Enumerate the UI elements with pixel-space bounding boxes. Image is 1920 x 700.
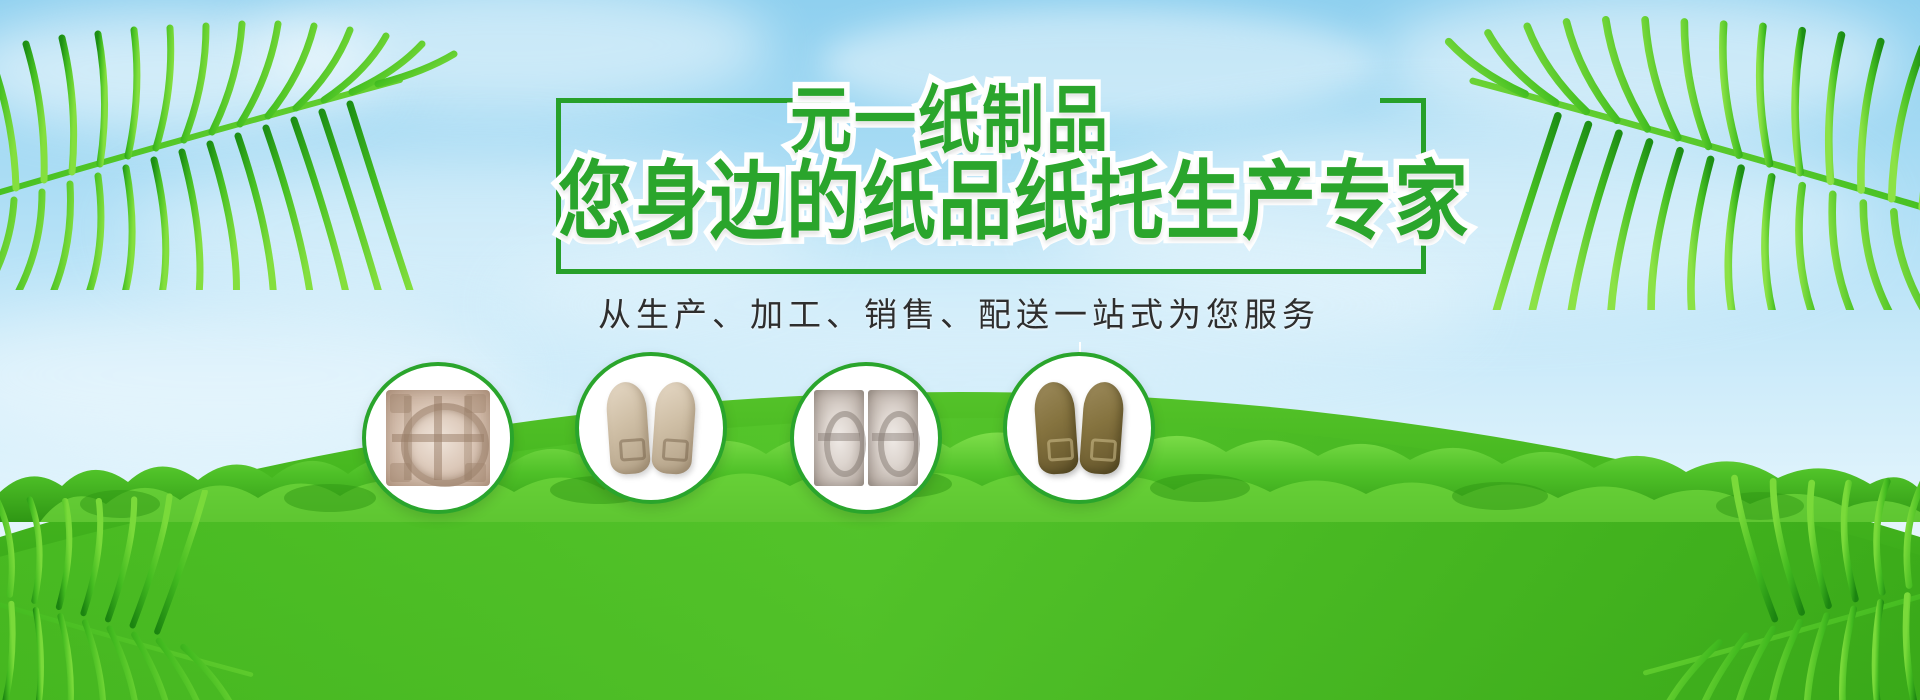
insole-pair [599, 380, 703, 476]
headline-line-2: 您身边的纸品纸托生产专家 [558, 152, 1470, 252]
tray-corner [390, 394, 411, 413]
insole-left [1033, 381, 1079, 476]
product-circle-insoles-dark[interactable] [1003, 352, 1155, 504]
product-image-paper-pulp-shoe-insoles-dark [1027, 380, 1131, 476]
headline-line-1: 元一纸制品 [790, 78, 1110, 163]
insole-right [651, 381, 697, 476]
pulp-half-left [814, 390, 864, 486]
insole-right [1079, 381, 1125, 476]
product-circle-pulp-tray[interactable] [362, 362, 514, 514]
tray-corner [465, 394, 486, 413]
tray-corner [465, 463, 486, 482]
promo-banner: 元一纸制品 您身边的纸品纸托生产专家 从生产、加工、销售、配送一站式为您服务 [0, 0, 1920, 700]
product-image-molded-pulp-packaging-halves [814, 390, 918, 486]
insole-pair [1027, 380, 1131, 476]
tray-cross-rib [392, 434, 484, 442]
palm-frond-icon-top-right [1370, 0, 1920, 310]
product-image-molded-pulp-square-tray [386, 390, 490, 486]
pulp-half-right [868, 390, 918, 486]
frame-bottom-segment [556, 269, 1426, 274]
product-image-paper-pulp-shoe-insoles-light [599, 380, 703, 476]
product-circle-pulp-halves[interactable] [790, 362, 942, 514]
banner-subtitle: 从生产、加工、销售、配送一站式为您服务 [598, 288, 1320, 336]
palm-frond-icon-bottom-left [0, 490, 320, 700]
product-circle-insoles-light[interactable] [575, 352, 727, 504]
pulp-tray-shape [386, 390, 490, 486]
palm-frond-icon-bottom-right [1570, 470, 1920, 700]
tray-corner [390, 463, 411, 482]
pulp-halves [814, 390, 918, 486]
palm-frond-icon-top-left [0, 0, 490, 290]
insole-left [605, 381, 651, 476]
